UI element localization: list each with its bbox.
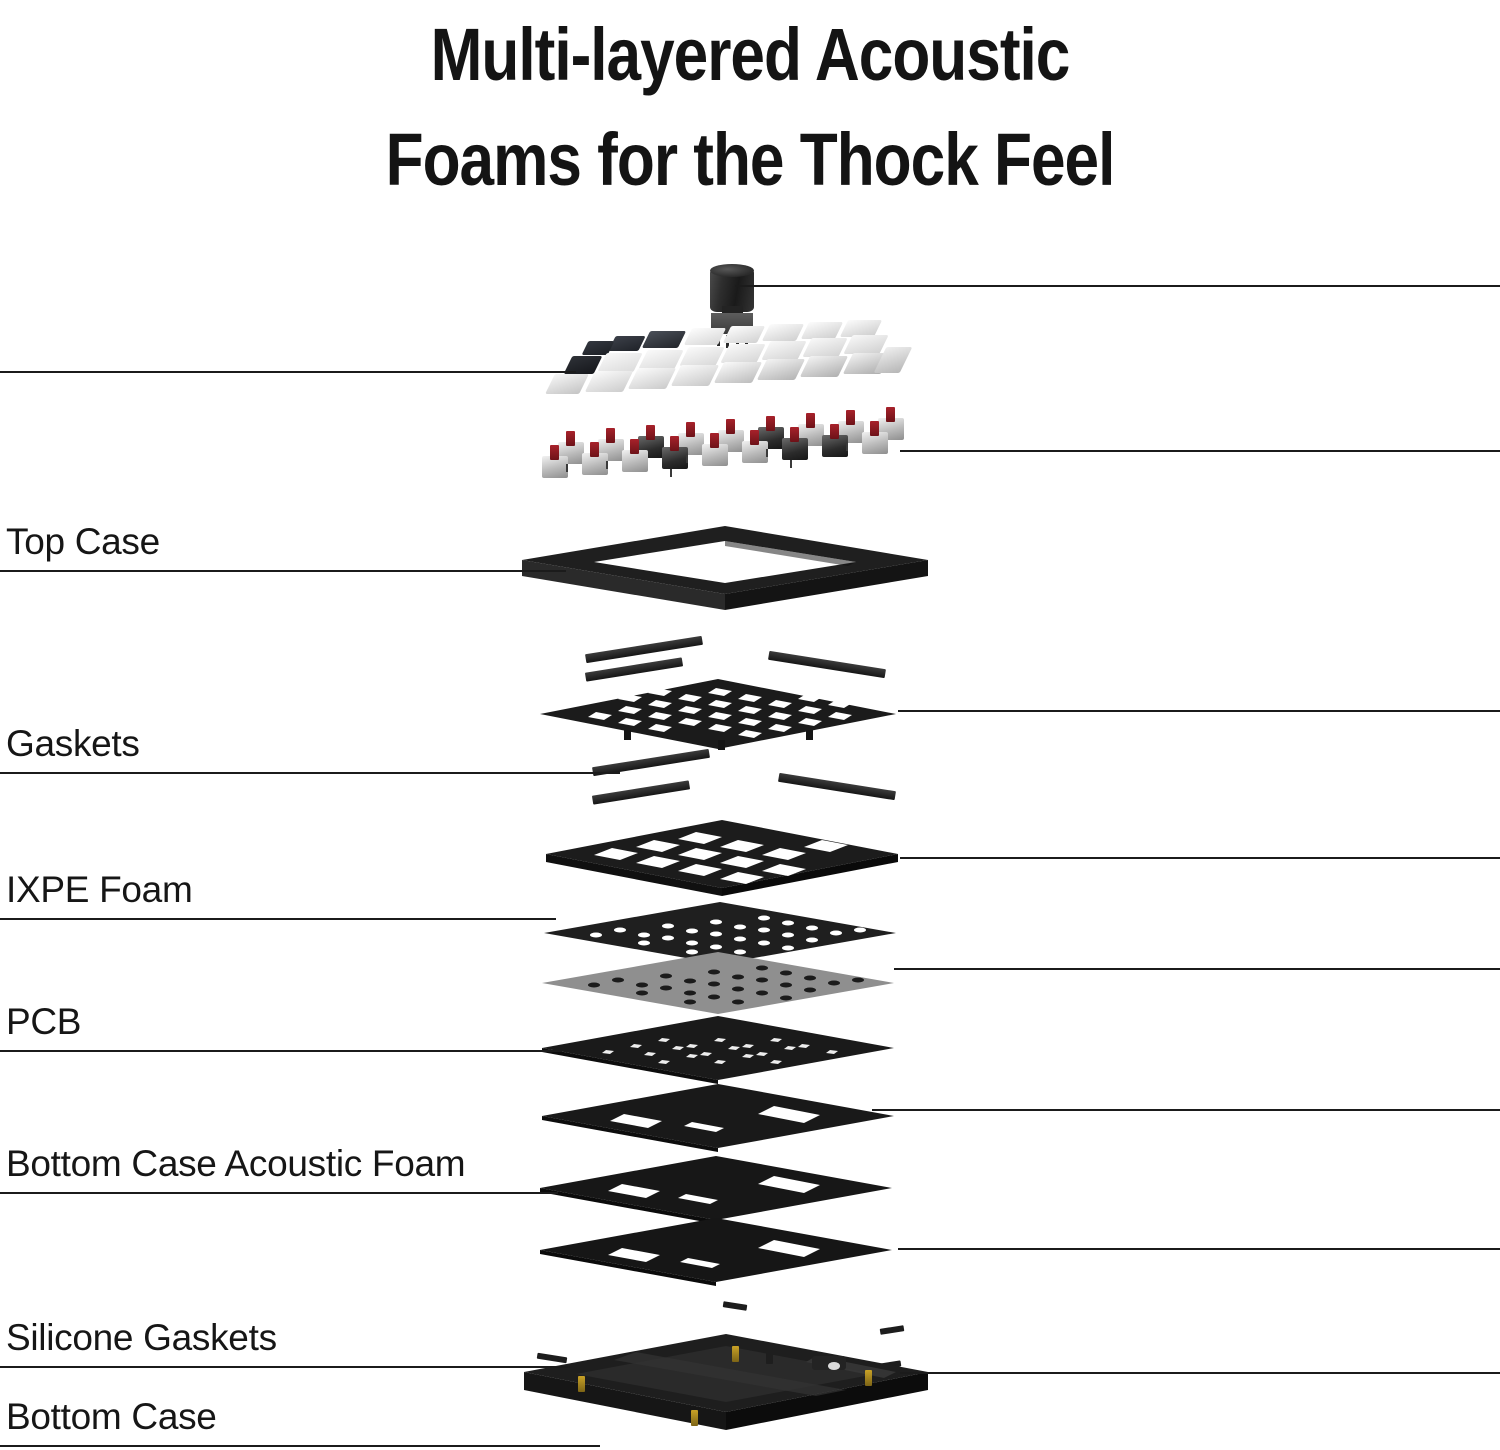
part-top-case — [518, 524, 932, 614]
callout-label-gaskets: Gaskets — [6, 725, 140, 762]
leader-line-pet-film — [894, 968, 1500, 970]
callout-label-bottom-case-acoustic-foam: Bottom Case Acoustic Foam — [6, 1145, 465, 1182]
page-title: Multi-layered Acoustic Foams for the Tho… — [120, 2, 1380, 212]
callout-label-silicone-gaskets: Silicone Gaskets — [6, 1319, 277, 1356]
leader-line-top-case — [0, 570, 566, 572]
leader-line-plate — [898, 710, 1500, 712]
leader-line-bottom-case-pet-film — [898, 1248, 1500, 1250]
leader-line-sound-absorbing-foam — [900, 857, 1500, 859]
callout-label-pcb: PCB — [6, 1003, 81, 1040]
part-latex-bottom-pad — [538, 1082, 868, 1200]
leader-line-battery — [900, 1372, 1500, 1374]
leader-line-bottom-case-acoustic-foam — [0, 1192, 558, 1194]
exploded-keyboard-diagram — [0, 0, 1500, 1448]
leader-line-pcb — [0, 1050, 562, 1052]
title-line-2: Foams for the Thock Feel — [120, 107, 1380, 212]
callout-label-bottom-case: Bottom Case — [6, 1398, 217, 1435]
part-bottom-case-acoustic-foam — [536, 1154, 866, 1272]
leader-line-ixpe-foam — [0, 918, 556, 920]
leader-line-gaskets — [0, 772, 620, 774]
leader-line-latex-bottom-pad — [872, 1109, 1500, 1111]
part-pet-film — [538, 950, 868, 1068]
part-switches — [540, 412, 910, 490]
leader-line-silicone-gaskets — [0, 1366, 570, 1368]
part-bottom-case-pet-film — [536, 1216, 866, 1334]
part-plate — [538, 678, 868, 796]
callout-label-top-case: Top Case — [6, 523, 160, 560]
leader-line-keycaps — [0, 371, 576, 373]
title-line-1: Multi-layered Acoustic — [120, 2, 1380, 107]
part-bottom-case — [516, 1330, 936, 1448]
part-sound-absorbing-foam — [542, 818, 872, 936]
part-ixpe-foam — [540, 900, 870, 1018]
leader-line-knob — [735, 285, 1500, 287]
leader-line-switches — [900, 450, 1500, 452]
callout-label-ixpe-foam: IXPE Foam — [6, 871, 192, 908]
part-pcb — [538, 1014, 868, 1132]
leader-line-bottom-case — [0, 1445, 600, 1447]
part-keycaps — [528, 330, 910, 392]
